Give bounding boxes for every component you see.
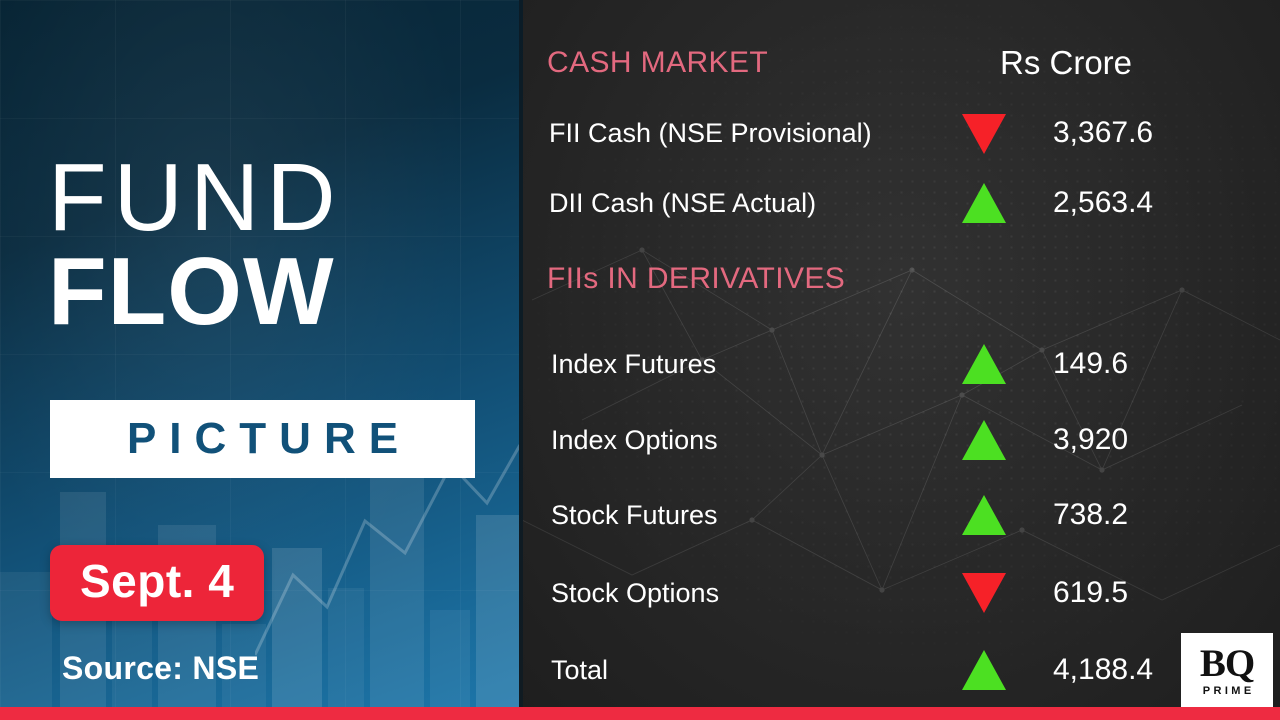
headline-block: FUND FLOW: [48, 152, 508, 337]
bq-prime-logo: BQ PRIME: [1181, 633, 1273, 709]
section-header-row: FIIs IN DERIVATIVES: [522, 256, 1280, 302]
row-value: 149.6: [1053, 347, 1128, 381]
table-row-total: Total 4,188.4: [522, 647, 1280, 693]
table-row: Index Futures 149.6: [522, 341, 1280, 387]
date-badge: Sept. 4: [50, 545, 264, 621]
fund-flow-table: CASH MARKET Rs Crore FII Cash (NSE Provi…: [522, 0, 1280, 720]
table-header-row: CASH MARKET Rs Crore: [522, 40, 1280, 86]
logo-wordmark: PRIME: [1199, 685, 1254, 697]
title-band-picture: PICTURE: [50, 400, 475, 478]
row-label: Index Futures: [551, 349, 716, 380]
table-row: Index Options 3,920: [522, 417, 1280, 463]
row-value: 619.5: [1053, 576, 1128, 610]
row-label: FII Cash (NSE Provisional): [549, 118, 872, 149]
section-header-fiis-in-derivatives: FIIs IN DERIVATIVES: [547, 262, 845, 296]
date-badge-label: Sept. 4: [80, 555, 234, 607]
table-row: FII Cash (NSE Provisional) 3,367.6: [522, 110, 1280, 156]
section-header-cash-market: CASH MARKET: [547, 46, 768, 80]
unit-header: Rs Crore: [1000, 44, 1132, 82]
row-label: Index Options: [551, 425, 718, 456]
arrow-up-icon: [962, 183, 1006, 223]
table-row: Stock Futures 738.2: [522, 492, 1280, 538]
row-label: Stock Options: [551, 578, 719, 609]
row-value: 2,563.4: [1053, 186, 1153, 220]
row-value: 738.2: [1053, 498, 1128, 532]
data-panel: CASH MARKET Rs Crore FII Cash (NSE Provi…: [522, 0, 1280, 720]
row-value: 3,367.6: [1053, 116, 1153, 150]
logo-mark: BQ: [1200, 645, 1254, 682]
source-label: Source: NSE: [62, 650, 259, 687]
arrow-up-icon: [962, 344, 1006, 384]
arrow-down-icon: [962, 114, 1006, 154]
row-value: 4,188.4: [1053, 653, 1153, 687]
arrow-down-icon: [962, 573, 1006, 613]
title-line-fund: FUND: [48, 152, 508, 244]
row-label: Total: [551, 655, 608, 686]
panel-divider: [519, 0, 523, 720]
arrow-up-icon: [962, 420, 1006, 460]
row-label: Stock Futures: [551, 500, 718, 531]
branding-panel: FUND FLOW PICTURE Sept. 4 Source: NSE: [0, 0, 520, 720]
title-line-picture: PICTURE: [114, 414, 411, 464]
row-label: DII Cash (NSE Actual): [549, 188, 816, 219]
row-value: 3,920: [1053, 423, 1128, 457]
infographic-canvas: FUND FLOW PICTURE Sept. 4 Source: NSE: [0, 0, 1280, 720]
table-row: Stock Options 619.5: [522, 570, 1280, 616]
bottom-accent-bar: [0, 707, 1280, 720]
arrow-up-icon: [962, 650, 1006, 690]
title-line-flow: FLOW: [48, 246, 508, 337]
arrow-up-icon: [962, 495, 1006, 535]
table-row: DII Cash (NSE Actual) 2,563.4: [522, 180, 1280, 226]
